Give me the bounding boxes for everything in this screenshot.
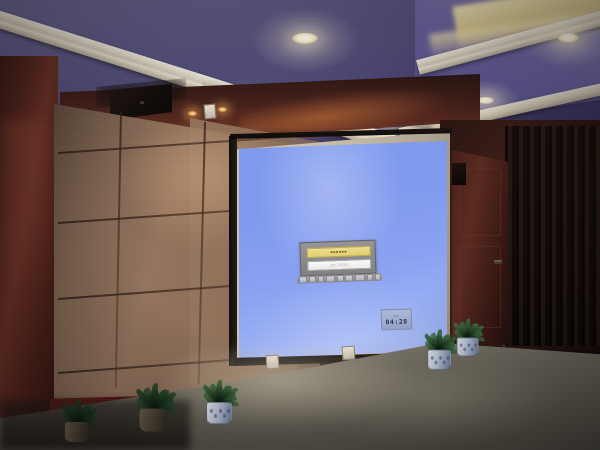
dialog-input-text: □□ □□□□ [308,260,370,270]
tray-button-2[interactable] [366,274,373,281]
dark-window-curtain [505,126,600,346]
pot-decoration [435,361,438,365]
plant-pot [457,338,479,357]
pot-decoration [475,343,478,346]
soffit-lamp-2-icon [218,107,227,112]
soffit-wall-plate-1[interactable] [203,104,216,120]
soffit-lamp-1-icon [188,111,197,116]
pot-decoration [214,414,217,418]
pot-decoration [467,343,470,346]
wood-column-highlight [4,120,44,350]
speaker-driver-icon [140,101,144,104]
projected-dialog-box[interactable]: ■■■■■■ □□ □□□□ [299,240,376,277]
right-wall-speaker [452,163,466,185]
downlight-6-icon [557,33,579,43]
room-photo-scene: ■■■■■■ □□ □□□□ ▪▪▪ 04:28 [0,0,600,450]
projected-clock-widget: ▪▪▪ 04:28 [381,308,413,330]
clock-time: 04:28 [385,317,407,326]
pot-decoration [471,348,474,351]
projection-screen-left-edge [229,136,237,366]
task-button-5[interactable] [345,275,353,282]
task-button-3[interactable] [326,275,336,282]
pot-decoration [227,409,230,413]
plant-pot [206,402,232,424]
dialog-title-text: ■■■■■■ [308,247,370,257]
pot-decoration [443,361,446,365]
pot-decoration [447,356,450,360]
task-button-2[interactable] [318,276,325,283]
pot-decoration [219,409,222,413]
floor-light-pool-secondary [300,370,560,440]
pot-decoration [439,356,442,360]
dialog-input-row[interactable]: □□ □□□□ [307,259,371,271]
plant-pot [140,409,168,432]
task-button-1[interactable] [309,276,317,283]
tray-button-1[interactable] [355,274,366,281]
plant-pot [427,350,451,370]
tray-button-3[interactable] [375,274,381,281]
door-handle[interactable] [494,260,502,264]
dialog-title-row: ■■■■■■ [307,246,371,258]
downlight-1-icon [292,33,318,44]
pot-decoration [223,414,226,418]
pot-decoration [431,356,434,360]
pot-decoration [210,409,213,413]
pot-decoration [464,348,467,351]
plant-pot [65,422,89,442]
task-button-4[interactable] [337,275,344,282]
start-button[interactable] [298,276,307,283]
pot-decoration [460,343,463,346]
